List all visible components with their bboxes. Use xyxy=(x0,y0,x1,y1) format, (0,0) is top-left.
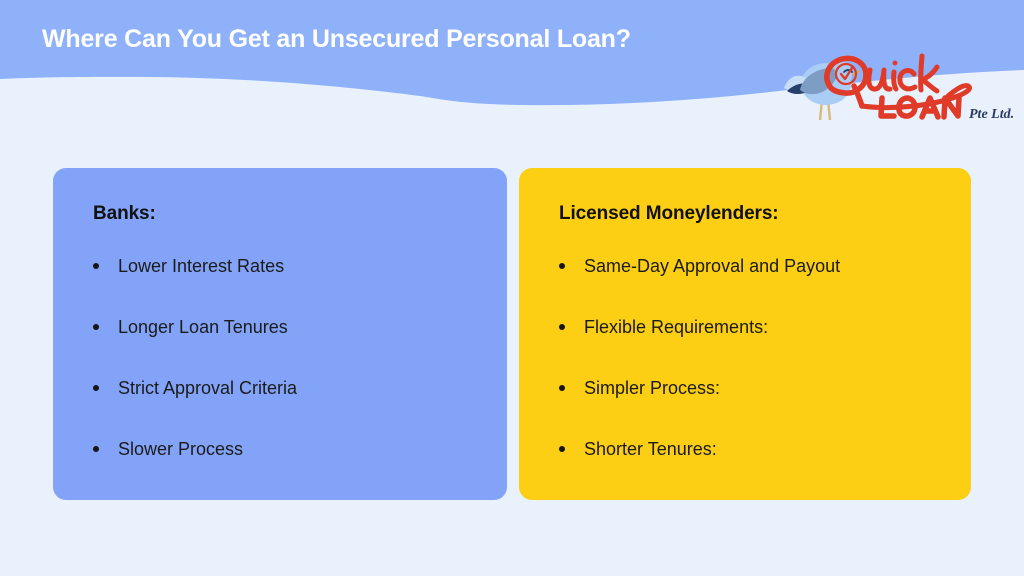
bullet-icon xyxy=(559,446,565,452)
list-item: Shorter Tenures: xyxy=(559,437,941,498)
bullet-icon xyxy=(93,324,99,330)
card-moneylenders: Licensed Moneylenders: Same-Day Approval… xyxy=(519,168,971,500)
list-item-label: Shorter Tenures: xyxy=(584,437,717,461)
list-item: Slower Process xyxy=(93,437,477,498)
list-item-label: Longer Loan Tenures xyxy=(118,315,288,339)
list-item: Flexible Requirements: xyxy=(559,315,941,376)
card-banks: Banks: Lower Interest Rates Longer Loan … xyxy=(53,168,507,500)
bullet-icon xyxy=(559,324,565,330)
list-item: Longer Loan Tenures xyxy=(93,315,477,376)
page-title: Where Can You Get an Unsecured Personal … xyxy=(42,22,802,56)
bullet-icon xyxy=(559,263,565,269)
list-item-label: Same-Day Approval and Payout xyxy=(584,254,840,278)
list-item: Same-Day Approval and Payout xyxy=(559,254,941,315)
card-banks-heading: Banks: xyxy=(93,202,477,226)
list-item-label: Simpler Process: xyxy=(584,376,720,400)
list-item-label: Flexible Requirements: xyxy=(584,315,768,339)
bullet-icon xyxy=(93,385,99,391)
brand-suffix-text: Pte Ltd. xyxy=(969,107,1014,122)
list-item: Lower Interest Rates xyxy=(93,254,477,315)
list-item: Strict Approval Criteria xyxy=(93,376,477,437)
card-moneylenders-heading: Licensed Moneylenders: xyxy=(559,202,941,226)
list-item: Simpler Process: xyxy=(559,376,941,437)
bullet-icon xyxy=(93,446,99,452)
list-item-label: Lower Interest Rates xyxy=(118,254,284,278)
bullet-icon xyxy=(93,263,99,269)
bullet-icon xyxy=(559,385,565,391)
card-moneylenders-list: Same-Day Approval and Payout Flexible Re… xyxy=(559,254,941,498)
list-item-label: Slower Process xyxy=(118,437,243,461)
bird-mascot-icon xyxy=(784,60,861,120)
card-banks-list: Lower Interest Rates Longer Loan Tenures… xyxy=(93,254,477,498)
header-band: Where Can You Get an Unsecured Personal … xyxy=(0,0,1024,135)
brand-logo[interactable]: Pte Ltd. xyxy=(782,48,1018,126)
list-item-label: Strict Approval Criteria xyxy=(118,376,297,400)
